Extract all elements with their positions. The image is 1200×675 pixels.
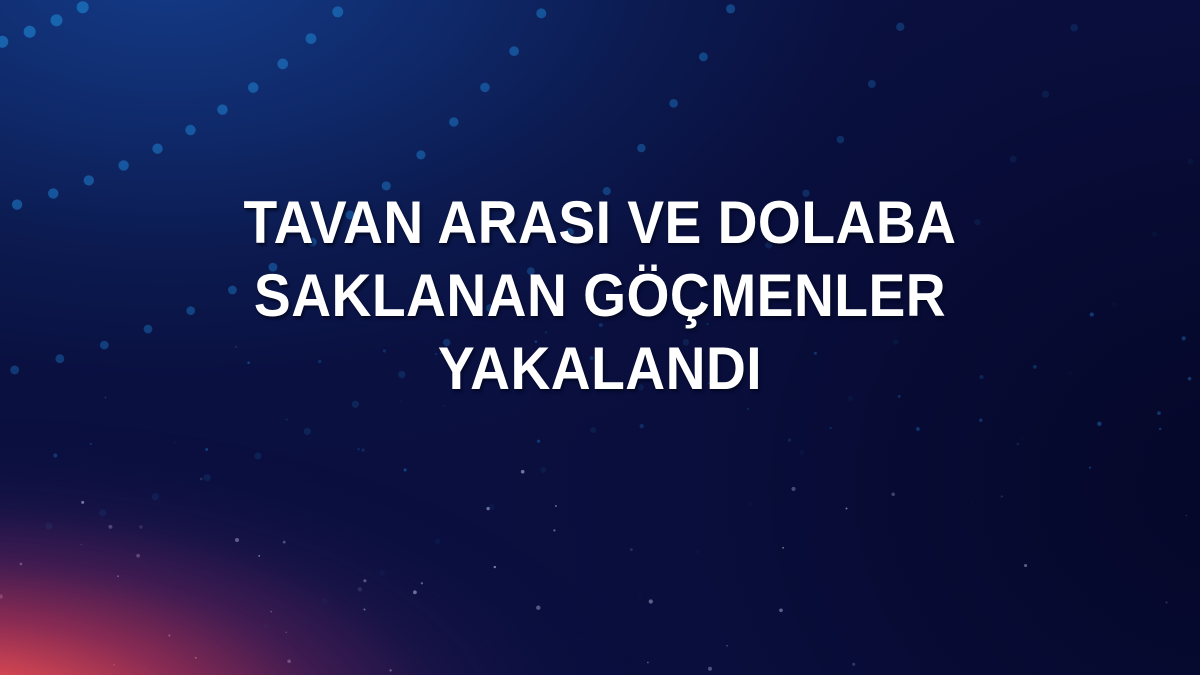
news-thumbnail-card: TAVAN ARASI VE DOLABA SAKLANAN GÖÇMENLER… <box>0 0 1200 675</box>
headline-line-2: SAKLANAN GÖÇMENLER <box>103 259 1097 332</box>
headline: TAVAN ARASI VE DOLABA SAKLANAN GÖÇMENLER… <box>0 186 1200 405</box>
headline-line-3: YAKALANDI <box>103 332 1097 405</box>
headline-line-1: TAVAN ARASI VE DOLABA <box>103 186 1097 259</box>
